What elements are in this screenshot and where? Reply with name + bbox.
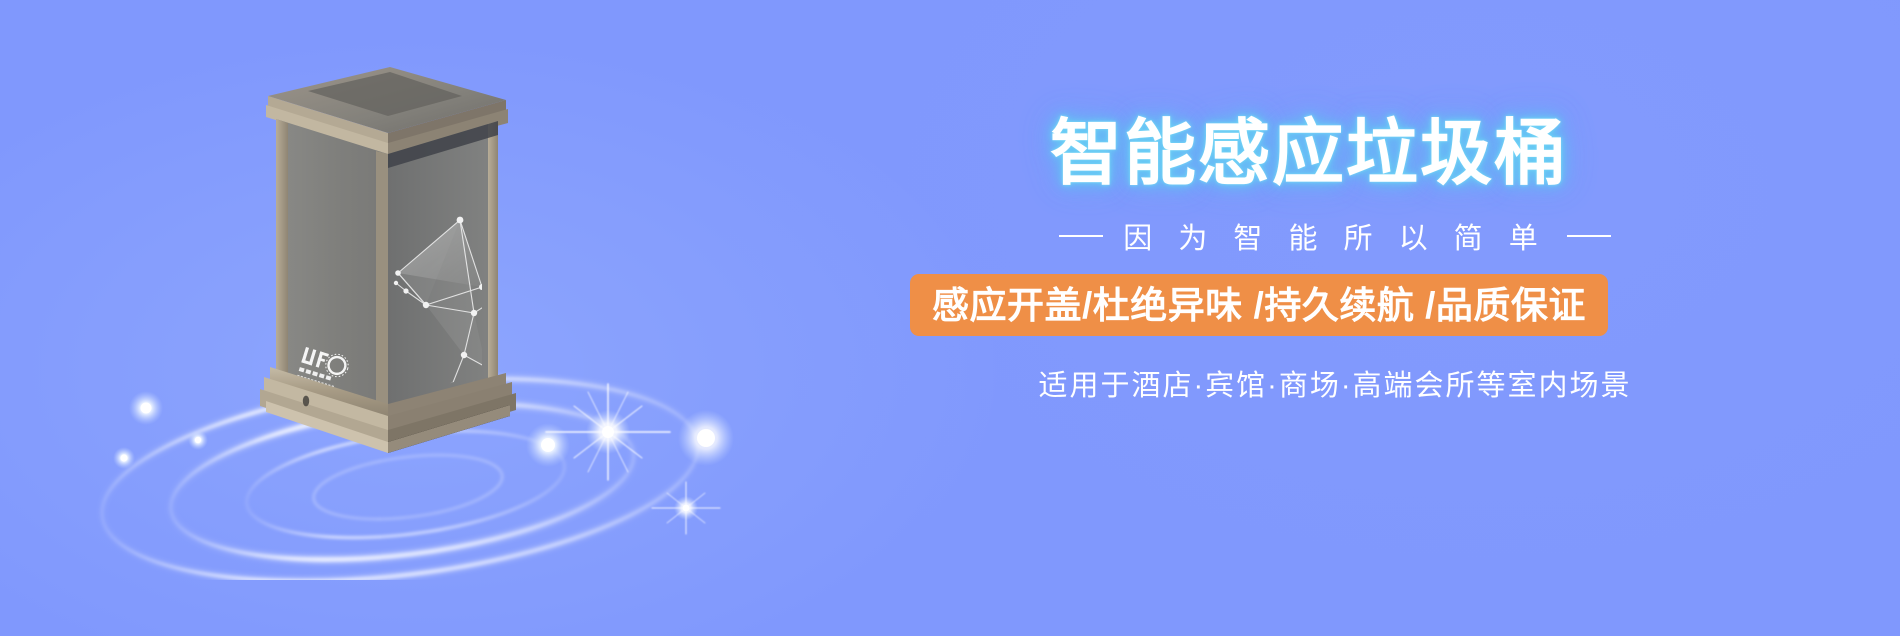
subtitle-dash-left — [1059, 235, 1103, 237]
base-sensor-detail — [303, 396, 309, 407]
trash-bin-illustration — [230, 55, 540, 455]
glow-dot — [129, 391, 163, 425]
feature-highlight-text: 感应开盖/杜绝异味 /持久续航 /品质保证 — [932, 287, 1586, 324]
glow-dot — [113, 447, 135, 469]
page-title: 智能感应垃圾桶 — [1050, 118, 1568, 190]
product-stage — [60, 30, 760, 590]
usage-scenes-text: 适用于酒店·宾馆·商场·高端会所等室内场景 — [900, 362, 1770, 404]
subtitle-line: 因 为 智 能 所 以 简 单 — [900, 215, 1770, 257]
sparkle-large — [546, 384, 670, 480]
promo-banner: 智能感应垃圾桶 因 为 智 能 所 以 简 单 感应开盖/杜绝异味 /持久续航 … — [0, 0, 1900, 636]
subtitle-text: 因 为 智 能 所 以 简 单 — [1123, 215, 1546, 257]
subtitle-dash-right — [1567, 235, 1611, 237]
glow-dot — [188, 430, 208, 450]
sparkle-orb — [678, 410, 734, 466]
feature-highlight-pill: 感应开盖/杜绝异味 /持久续航 /品质保证 — [910, 274, 1608, 336]
sparkle-small — [652, 482, 720, 534]
copy-column: 智能感应垃圾桶 因 为 智 能 所 以 简 单 感应开盖/杜绝异味 /持久续航 … — [900, 0, 1860, 636]
